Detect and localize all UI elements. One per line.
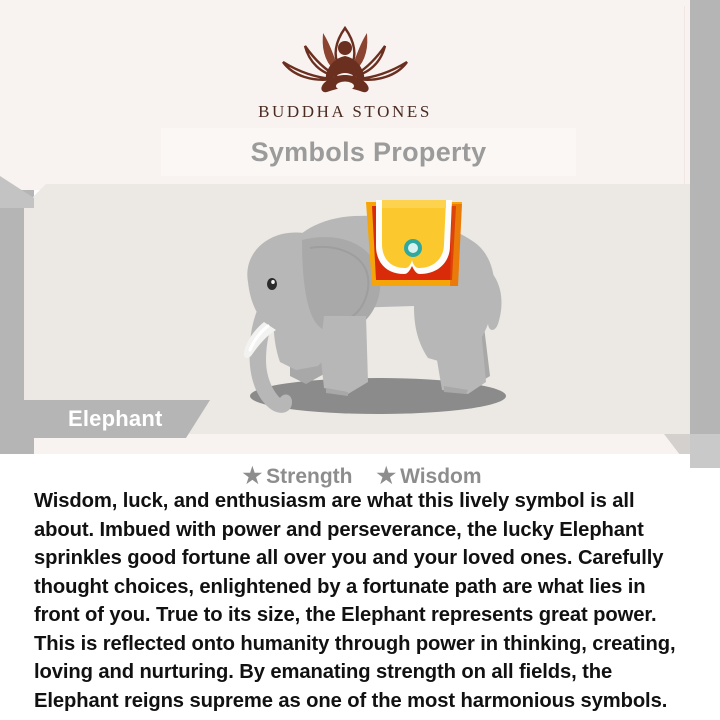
- trait-label: Wisdom: [400, 465, 481, 488]
- walking-elephant-icon: [206, 190, 526, 434]
- elephant-illustration: [0, 190, 720, 434]
- trait-list: ★Strength ★Wisdom: [34, 463, 690, 489]
- star-icon: ★: [376, 463, 396, 488]
- description-text: Wisdom, luck, and enthusiasm are what th…: [34, 487, 690, 715]
- title-banner: Symbols Property: [161, 128, 576, 176]
- trait-strength: ★Strength: [242, 463, 352, 489]
- trait-label: Strength: [266, 465, 352, 488]
- status-badge: Elephant: [0, 400, 210, 438]
- frame-right-fold: [690, 434, 720, 468]
- star-icon: ★: [242, 463, 262, 488]
- symbols-property-card: BUDDHA STONES Symbols Property: [0, 0, 720, 720]
- page-title: Symbols Property: [251, 137, 487, 168]
- trait-wisdom: ★Wisdom: [376, 463, 481, 489]
- lotus-meditation-icon: [265, 22, 425, 100]
- brand-name: BUDDHA STONES: [0, 102, 690, 122]
- brand-logo: BUDDHA STONES: [0, 22, 690, 122]
- symbol-name: Elephant: [68, 406, 163, 432]
